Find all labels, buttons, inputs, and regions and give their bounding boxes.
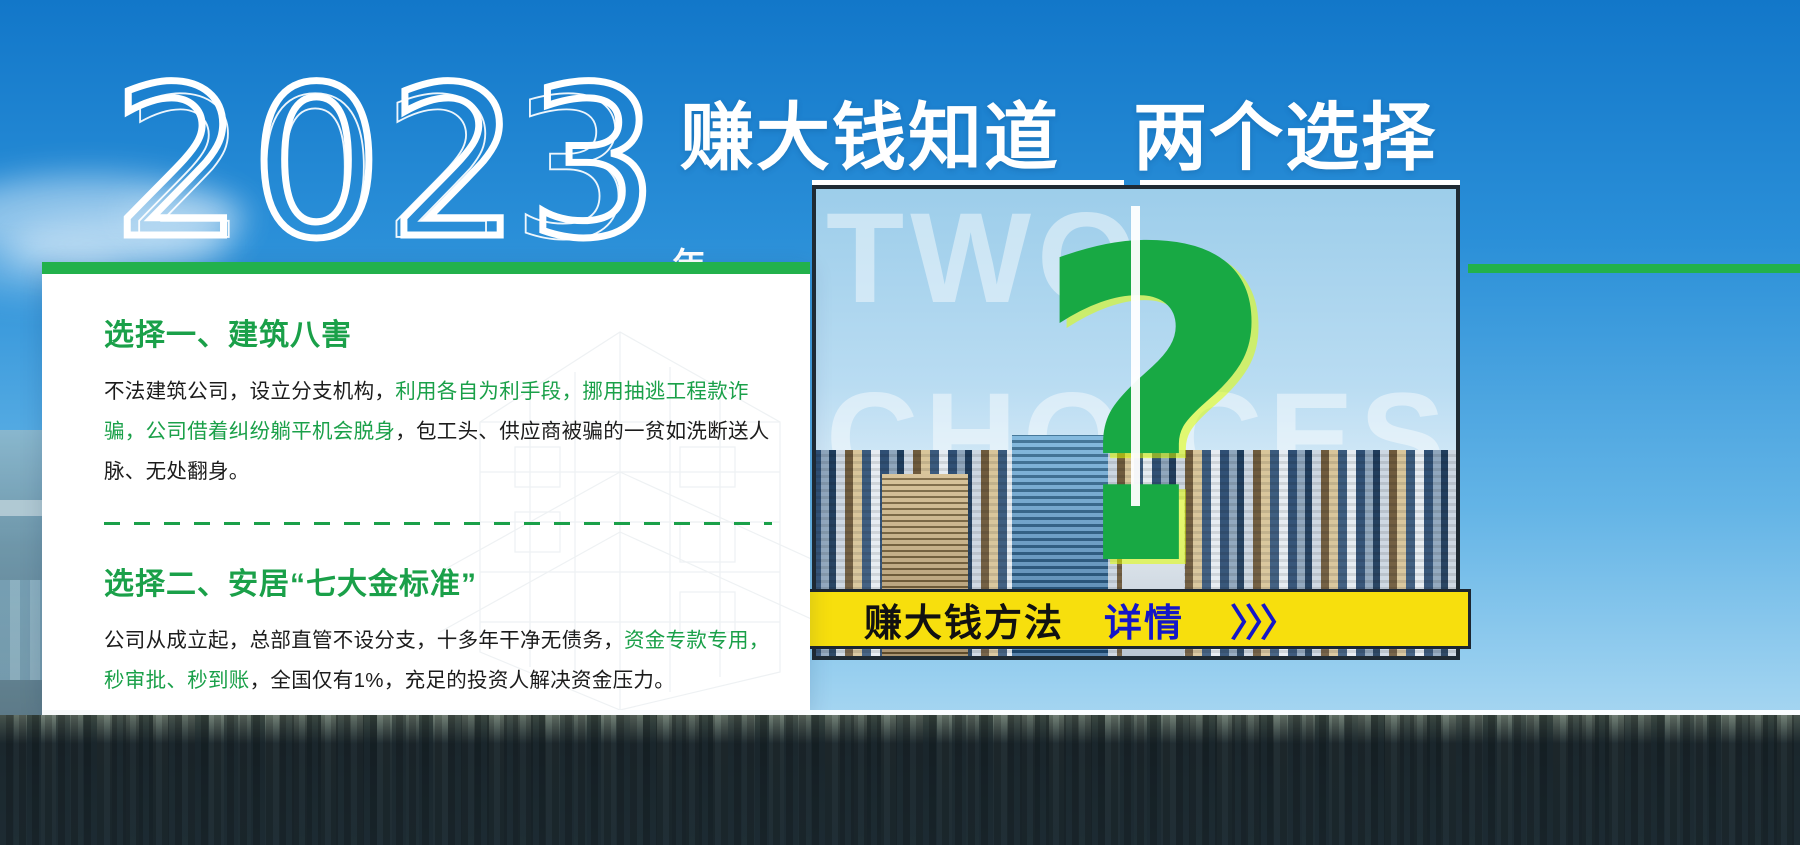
chevron-right-icon: 〉〉〉 xyxy=(1230,592,1294,647)
section-two-run-1: 公司从成立起，总部直管不设分支，十多年干净无债务， xyxy=(104,629,624,652)
section-two-run-3: ，全国仅有1%，充足的投资人解决资金压力。 xyxy=(250,669,675,692)
content-card: 选择一、建筑八害 不法建筑公司，设立分支机构，利用各自为利手段，挪用抽逃工程款诈… xyxy=(42,262,810,710)
section-title-one: 选择一、建筑八害 xyxy=(104,310,772,354)
question-mark-divider-line xyxy=(1131,206,1140,506)
poster-root: 2023 2023 年 赚大钱知道 两个选择 TWO CHOICES ? 赚大钱… xyxy=(0,0,1800,845)
cta-banner[interactable]: 赚大钱方法 详情 〉〉〉 xyxy=(805,589,1471,649)
cta-detail-link[interactable]: 详情 xyxy=(1104,592,1184,647)
green-accent-bar xyxy=(1468,264,1800,273)
year-badge: 2023 2023 年 xyxy=(112,62,732,277)
cta-main-label: 赚大钱方法 xyxy=(864,592,1064,647)
section-title-two: 选择二、安居“七大金标准” xyxy=(104,559,772,603)
headline-part-1: 赚大钱知道 xyxy=(680,96,1060,179)
section-divider xyxy=(104,522,772,525)
section-body-one: 不法建筑公司，设立分支机构，利用各自为利手段，挪用抽逃工程款诈骗，公司借着纠纷躺… xyxy=(104,372,772,492)
question-mark-icon: ? xyxy=(1030,196,1279,626)
year-inner-outline-text: 2023 xyxy=(125,76,640,267)
section-body-two: 公司从成立起，总部直管不设分支，十多年干净无债务，资金专款专用，秒审批、秒到账，… xyxy=(104,621,772,701)
section-one-run-1: 不法建筑公司，设立分支机构， xyxy=(104,380,395,403)
bottom-photo-strip xyxy=(0,715,1800,845)
card-body: 选择一、建筑八害 不法建筑公司，设立分支机构，利用各自为利手段，挪用抽逃工程款诈… xyxy=(42,262,810,701)
